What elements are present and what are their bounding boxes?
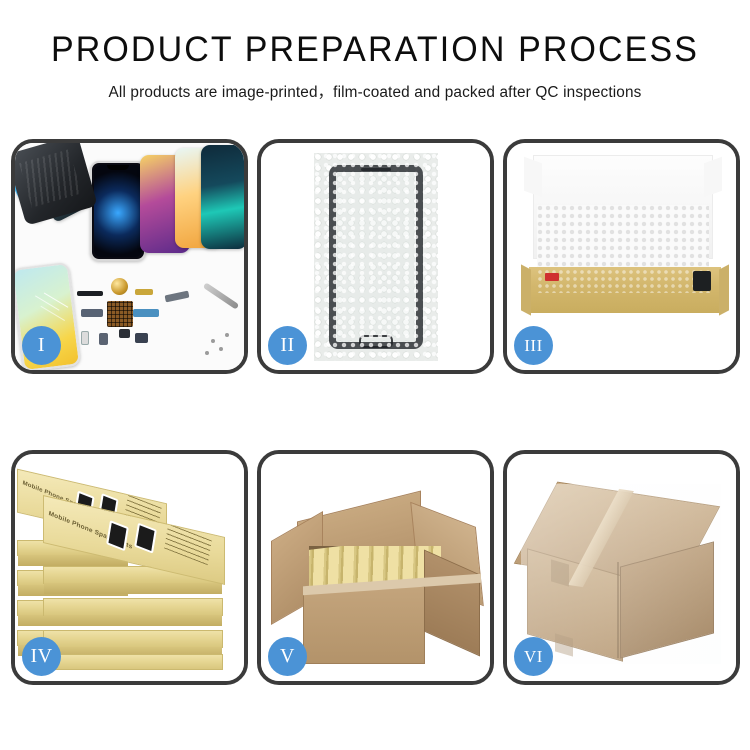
process-step-panel-2: II: [257, 139, 494, 374]
phone-screen-glow: [94, 165, 142, 257]
stacked-box-shape: [43, 630, 223, 648]
box-artwork-thumbnail: [134, 523, 157, 554]
step-badge-1: I: [22, 326, 61, 365]
step-badge-2: II: [268, 326, 307, 365]
step-badge-4: IV: [22, 637, 61, 676]
box-spec-lines: [164, 524, 212, 566]
phone-notch-shape: [107, 165, 129, 170]
blue-ribbon-part-shape: [133, 309, 159, 317]
teal-phone-shape: [201, 145, 244, 249]
gold-connector-part-shape: [135, 289, 153, 295]
screw-shape: [225, 333, 229, 337]
step-badge-6: VI: [514, 637, 553, 676]
process-step-panel-1: I: [11, 139, 248, 374]
box-artwork-thumbnail: [106, 520, 129, 551]
copper-coil-part-shape: [111, 278, 128, 295]
red-label-sticker: [545, 273, 559, 281]
carton-corner-seam: [617, 562, 619, 658]
step-badge-3: III: [514, 326, 553, 365]
small-part-shape: [81, 309, 103, 317]
screw-shape: [219, 347, 223, 351]
camera-part-shape: [135, 333, 148, 343]
box-side-face: [44, 615, 222, 626]
box-side-face: [44, 583, 222, 594]
process-step-panel-5: V: [257, 450, 494, 685]
mesh-grid-part-shape: [107, 301, 133, 327]
button-part-shape: [99, 333, 108, 345]
screw-shape: [211, 339, 215, 343]
carton-front-face: [303, 586, 425, 664]
page-subtitle: All products are image-printed，film-coat…: [4, 80, 747, 102]
process-step-grid: I II III: [11, 139, 739, 685]
page-title: PRODUCT PREPARATION PROCESS: [11, 32, 739, 69]
process-step-panel-3: III: [503, 139, 740, 374]
battery-part-shape: [81, 331, 89, 345]
flex-cable-part-shape: [77, 291, 103, 296]
process-step-panel-4: Mobile Phone Spare Parts Mobile Phone Sp…: [11, 450, 248, 685]
process-step-panel-6: VI: [503, 450, 740, 685]
page-header: PRODUCT PREPARATION PROCESS All products…: [0, 0, 750, 102]
stacked-box-shape: [43, 598, 223, 616]
carton-flap-tab: [555, 633, 573, 656]
stacked-box-shape: [43, 654, 223, 670]
packed-screen-shape: [537, 269, 713, 293]
step-badge-5: V: [268, 637, 307, 676]
black-front-phone-shape: [90, 161, 146, 261]
wrapped-screen-outline: [329, 165, 423, 349]
screw-shape: [205, 351, 209, 355]
chip-part-shape: [119, 329, 130, 338]
